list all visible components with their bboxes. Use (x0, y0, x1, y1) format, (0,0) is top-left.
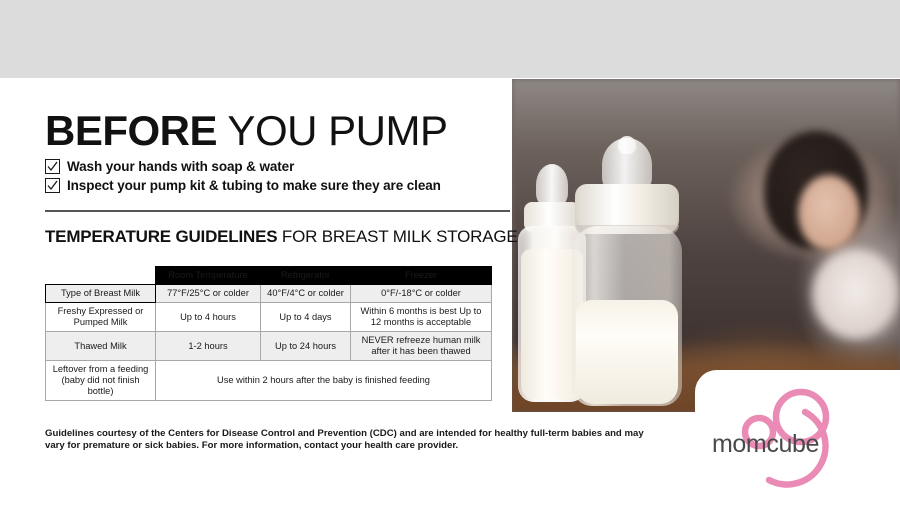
checklist-item: Wash your hands with soap & water (45, 159, 500, 174)
table-cell-freezer-temp-value: 0°F/-18°C or colder (351, 285, 492, 303)
content-column: BEFORE YOU PUMP Wash your hands with soa… (0, 79, 512, 521)
table-row: Leftover from a feeding (baby did not fi… (46, 361, 492, 401)
checkbox-checked-icon (45, 178, 60, 193)
breast-milk-storage-table: Room Temperature Refrigerator Freezer Ty… (45, 266, 492, 401)
table-header-freezer: Freezer (351, 267, 492, 285)
table-cell-freezer: NEVER refreeze human milk after it has b… (351, 332, 492, 361)
section-title-strong: TEMPERATURE GUIDELINES (45, 227, 277, 246)
table-cell-room: 1-2 hours (156, 332, 261, 361)
headline-light: YOU PUMP (217, 107, 447, 154)
table-header-room-temperature: Room Temperature (156, 267, 261, 285)
section-title: TEMPERATURE GUIDELINES FOR BREAST MILK S… (45, 227, 518, 247)
table-cell-milk-type: Leftover from a feeding (baby did not fi… (46, 361, 156, 401)
table-row: Freshy Expressed or Pumped Milk Up to 4 … (46, 303, 492, 332)
checklist-item-label: Inspect your pump kit & tubing to make s… (67, 178, 441, 193)
bottle-nipple (536, 164, 568, 206)
photo-baby (812, 249, 898, 339)
section-title-light: FOR BREAST MILK STORAGE (277, 227, 517, 246)
mother-and-baby-photo (512, 79, 900, 412)
brand-logo-panel: momcube (695, 370, 900, 521)
table-cell-span-note: Use within 2 hours after the baby is fin… (156, 361, 492, 401)
table-cell-room-temp-value: 77°F/25°C or colder (156, 285, 261, 303)
baby-bottle-front (572, 138, 682, 406)
top-gray-band (0, 0, 900, 78)
table-cell-freezer: Within 6 months is best Up to 12 months … (351, 303, 492, 332)
checkbox-checked-icon (45, 159, 60, 174)
table-header-row: Room Temperature Refrigerator Freezer (46, 267, 492, 285)
table-header-refrigerator: Refrigerator (261, 267, 351, 285)
table-cell-fridge: Up to 24 hours (261, 332, 351, 361)
checklist-item: Inspect your pump kit & tubing to make s… (45, 178, 500, 193)
table-header-blank (46, 267, 156, 285)
infographic-page: BEFORE YOU PUMP Wash your hands with soa… (0, 0, 900, 521)
logo-wordmark: momcube (712, 430, 819, 459)
page-title: BEFORE YOU PUMP (45, 108, 447, 154)
table-cell-room: Up to 4 hours (156, 303, 261, 332)
table-cell-milk-type: Freshy Expressed or Pumped Milk (46, 303, 156, 332)
section-divider (45, 210, 510, 212)
table-row-temperatures: Type of Breast Milk 77°F/25°C or colder … (46, 285, 492, 303)
table-cell-fridge: Up to 4 days (261, 303, 351, 332)
checklist-item-label: Wash your hands with soap & water (67, 159, 294, 174)
table-cell-fridge-temp-value: 40°F/4°C or colder (261, 285, 351, 303)
table-cell-milk-type: Thawed Milk (46, 332, 156, 361)
bottle-body (572, 226, 682, 406)
headline-strong: BEFORE (45, 107, 217, 154)
table-cell-type-of-breast-milk: Type of Breast Milk (46, 285, 156, 303)
footnote-text: Guidelines courtesy of the Centers for D… (45, 428, 645, 453)
bottle-milk (576, 300, 678, 404)
table-row: Thawed Milk 1-2 hours Up to 24 hours NEV… (46, 332, 492, 361)
photo-mother-face (798, 175, 860, 251)
pre-pump-checklist: Wash your hands with soap & water Inspec… (45, 159, 500, 197)
